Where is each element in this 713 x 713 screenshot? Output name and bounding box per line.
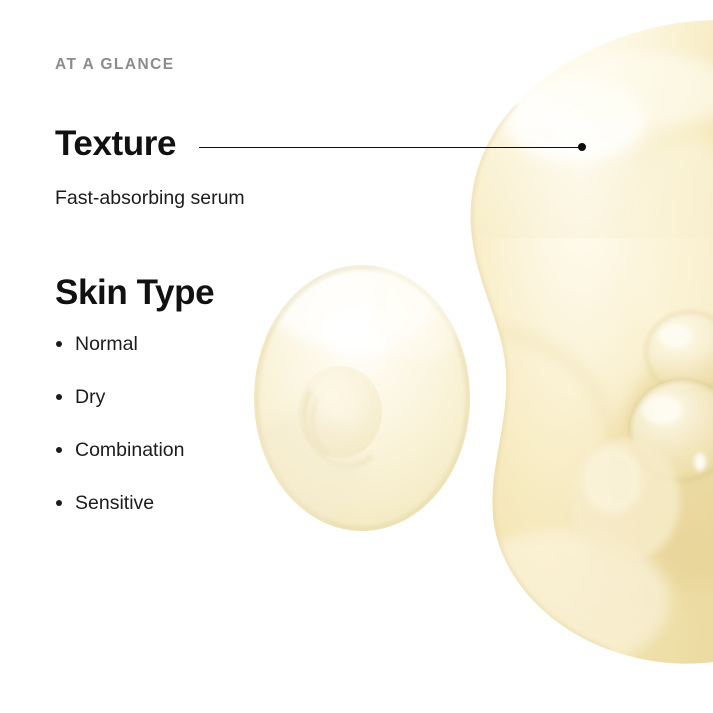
skin-type-item-label: Dry: [75, 386, 105, 409]
callout-line: [199, 146, 585, 148]
at-a-glance-card: AT A GLANCE Texture Fast-absorbing serum…: [0, 0, 713, 713]
list-item: Normal: [55, 333, 184, 386]
eyebrow-label: AT A GLANCE: [55, 56, 175, 74]
bullet-icon: [56, 394, 62, 400]
list-item: Combination: [55, 439, 184, 492]
skin-type-heading: Skin Type: [55, 275, 214, 310]
skin-type-item-label: Sensitive: [75, 492, 154, 515]
content-layer: AT A GLANCE Texture Fast-absorbing serum…: [0, 0, 713, 713]
texture-description: Fast-absorbing serum: [55, 187, 245, 210]
skin-type-item-label: Normal: [75, 333, 138, 356]
skin-type-item-label: Combination: [75, 439, 184, 462]
callout-line-rule: [199, 147, 585, 148]
bullet-icon: [56, 341, 62, 347]
list-item: Dry: [55, 386, 184, 439]
texture-heading: Texture: [55, 126, 176, 161]
callout-line-endpoint-dot: [578, 143, 586, 151]
skin-type-list: Normal Dry Combination Sensitive: [55, 333, 184, 545]
bullet-icon: [56, 500, 62, 506]
list-item: Sensitive: [55, 492, 184, 545]
bullet-icon: [56, 447, 62, 453]
